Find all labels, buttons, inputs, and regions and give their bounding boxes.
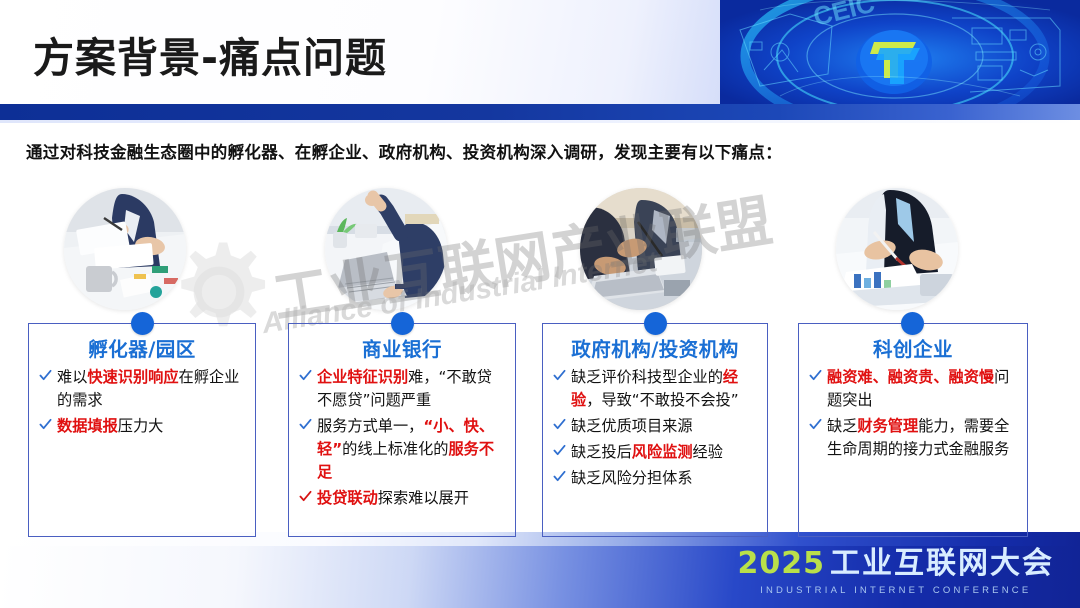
normal-text: 探索难以展开 [378, 489, 469, 507]
bullet-text: 融资难、融资贵、融资慢问题突出 [827, 368, 1009, 409]
check-icon [299, 418, 312, 431]
card-title-commercial-bank: 商业银行 [289, 333, 515, 362]
photo-signing-charts [836, 188, 958, 310]
bullet-text: 难以快速识别响应在孵企业的需求 [57, 368, 239, 409]
bullet-text: 缺乏优质项目来源 [571, 417, 693, 435]
normal-text: 压力大 [118, 417, 164, 435]
photo-meeting-dark [580, 188, 702, 310]
check-icon [809, 369, 822, 382]
highlight-text: 风险监测 [632, 443, 693, 461]
photo-incubator [64, 188, 186, 310]
highlight-text: 数据填报 [57, 417, 118, 435]
page-title: 方案背景-痛点问题 [33, 24, 387, 84]
slide-root: CEIC 方案背景-痛点问题 通过对科技金融生态圈中的孵化器、在孵企业、政府机构… [0, 0, 1080, 608]
list-item: 缺乏评价科技型企业的经验，导致“不敢投不会投” [551, 366, 759, 412]
card-title-tech-startup: 科创企业 [799, 333, 1027, 362]
header-tech-graphic: CEIC [720, 0, 1080, 106]
card-dot-incubator [131, 312, 154, 335]
normal-text: 缺乏 [827, 417, 857, 435]
title-divider-band [0, 104, 1080, 120]
normal-text: 服务方式单一， [317, 417, 423, 435]
list-item: 融资难、融资贵、融资慢问题突出 [807, 366, 1019, 412]
normal-text: ，导致“不敢投不会投” [586, 391, 738, 409]
normal-text: 缺乏评价科技型企业的 [571, 368, 723, 386]
check-icon [299, 369, 312, 382]
list-item: 企业特征识别难，“不敢贷不愿贷”问题严重 [297, 366, 507, 412]
card-body-incubator: 难以快速识别响应在孵企业的需求 数据填报压力大 [29, 366, 255, 441]
bullet-text: 缺乏投后风险监测经验 [571, 443, 723, 461]
normal-text: 经验 [693, 443, 723, 461]
highlight-text: 投贷联动 [317, 489, 378, 507]
photo-startup [836, 188, 958, 310]
check-icon [553, 418, 566, 431]
bullet-text: 缺乏评价科技型企业的经验，导致“不敢投不会投” [571, 368, 739, 409]
normal-text: 难以 [57, 368, 87, 386]
highlight-text: 快速识别响应 [87, 368, 178, 386]
check-icon [553, 444, 566, 457]
card-title-government: 政府机构/投资机构 [543, 333, 767, 362]
bullet-text: 缺乏风险分担体系 [571, 469, 693, 487]
photo-government [580, 188, 702, 310]
highlight-text: 融资难、融资贵、融资慢 [827, 368, 994, 386]
logo-year: 2025 [738, 546, 826, 581]
conference-logo: 2025 工业互联网大会 INDUSTRIAL INTERNET CONFERE… [738, 538, 1055, 596]
card-tech-startup[interactable]: 科创企业 融资难、融资贵、融资慢问题突出 缺乏财务管理能力，需要全生命周期的接力… [798, 323, 1028, 537]
title-divider-thin [0, 120, 1080, 123]
list-item: 缺乏风险分担体系 [551, 467, 759, 490]
check-icon [809, 418, 822, 431]
card-dot-government [644, 312, 667, 335]
bullet-text: 数据填报压力大 [57, 417, 163, 435]
slide-header: CEIC 方案背景-痛点问题 [0, 0, 1080, 106]
list-item: 缺乏投后风险监测经验 [551, 441, 759, 464]
bullet-text: 企业特征识别难，“不敢贷不愿贷”问题严重 [317, 368, 492, 409]
check-icon [553, 369, 566, 382]
card-dot-tech-startup [901, 312, 924, 335]
intro-text: 通过对科技金融生态圈中的孵化器、在孵企业、政府机构、投资机构深入调研，发现主要有… [26, 139, 782, 163]
check-icon [39, 418, 52, 431]
check-icon [553, 470, 566, 483]
normal-text: 缺乏优质项目来源 [571, 417, 693, 435]
list-item: 难以快速识别响应在孵企业的需求 [37, 366, 247, 412]
list-item: 服务方式单一，“小、快、轻”的线上标准化的服务不足 [297, 415, 507, 484]
normal-text: 的线上标准化的 [342, 440, 448, 458]
bullet-text: 服务方式单一，“小、快、轻”的线上标准化的服务不足 [317, 417, 494, 481]
list-item: 投贷联动探索难以展开 [297, 487, 507, 510]
photo-desk-writing [64, 188, 186, 310]
logo-en: INDUSTRIAL INTERNET CONFERENCE [738, 585, 1055, 596]
highlight-text: 企业特征识别 [317, 368, 408, 386]
card-title-incubator: 孵化器/园区 [29, 333, 255, 362]
card-government[interactable]: 政府机构/投资机构 缺乏评价科技型企业的经验，导致“不敢投不会投” 缺乏优质项目… [542, 323, 768, 537]
card-dot-commercial-bank [391, 312, 414, 335]
list-item: 数据填报压力大 [37, 415, 247, 438]
card-incubator[interactable]: 孵化器/园区 难以快速识别响应在孵企业的需求 数据填报压力大 [28, 323, 256, 537]
highlight-text: 财务管理 [857, 417, 918, 435]
tech-circuit-illustration: CEIC [720, 0, 1080, 106]
list-item: 缺乏财务管理能力，需要全生命周期的接力式金融服务 [807, 415, 1019, 461]
card-commercial-bank[interactable]: 商业银行 企业特征识别难，“不敢贷不愿贷”问题严重 服务方式单一，“小、快、轻”… [288, 323, 516, 537]
normal-text: 缺乏风险分担体系 [571, 469, 693, 487]
card-body-commercial-bank: 企业特征识别难，“不敢贷不愿贷”问题严重 服务方式单一，“小、快、轻”的线上标准… [289, 366, 515, 514]
bullet-text: 投贷联动探索难以展开 [317, 489, 469, 507]
card-body-tech-startup: 融资难、融资贵、融资慢问题突出 缺乏财务管理能力，需要全生命周期的接力式金融服务 [799, 366, 1027, 464]
photo-pointing-laptop [325, 188, 447, 310]
logo-cn: 工业互联网大会 [830, 538, 1054, 582]
normal-text: 缺乏投后 [571, 443, 632, 461]
list-item: 缺乏优质项目来源 [551, 415, 759, 438]
card-body-government: 缺乏评价科技型企业的经验，导致“不敢投不会投” 缺乏优质项目来源 缺乏投后风险监… [543, 366, 767, 493]
check-icon [39, 369, 52, 382]
bullet-text: 缺乏财务管理能力，需要全生命周期的接力式金融服务 [827, 417, 1009, 458]
check-icon [299, 490, 312, 503]
photo-bank [325, 188, 447, 310]
